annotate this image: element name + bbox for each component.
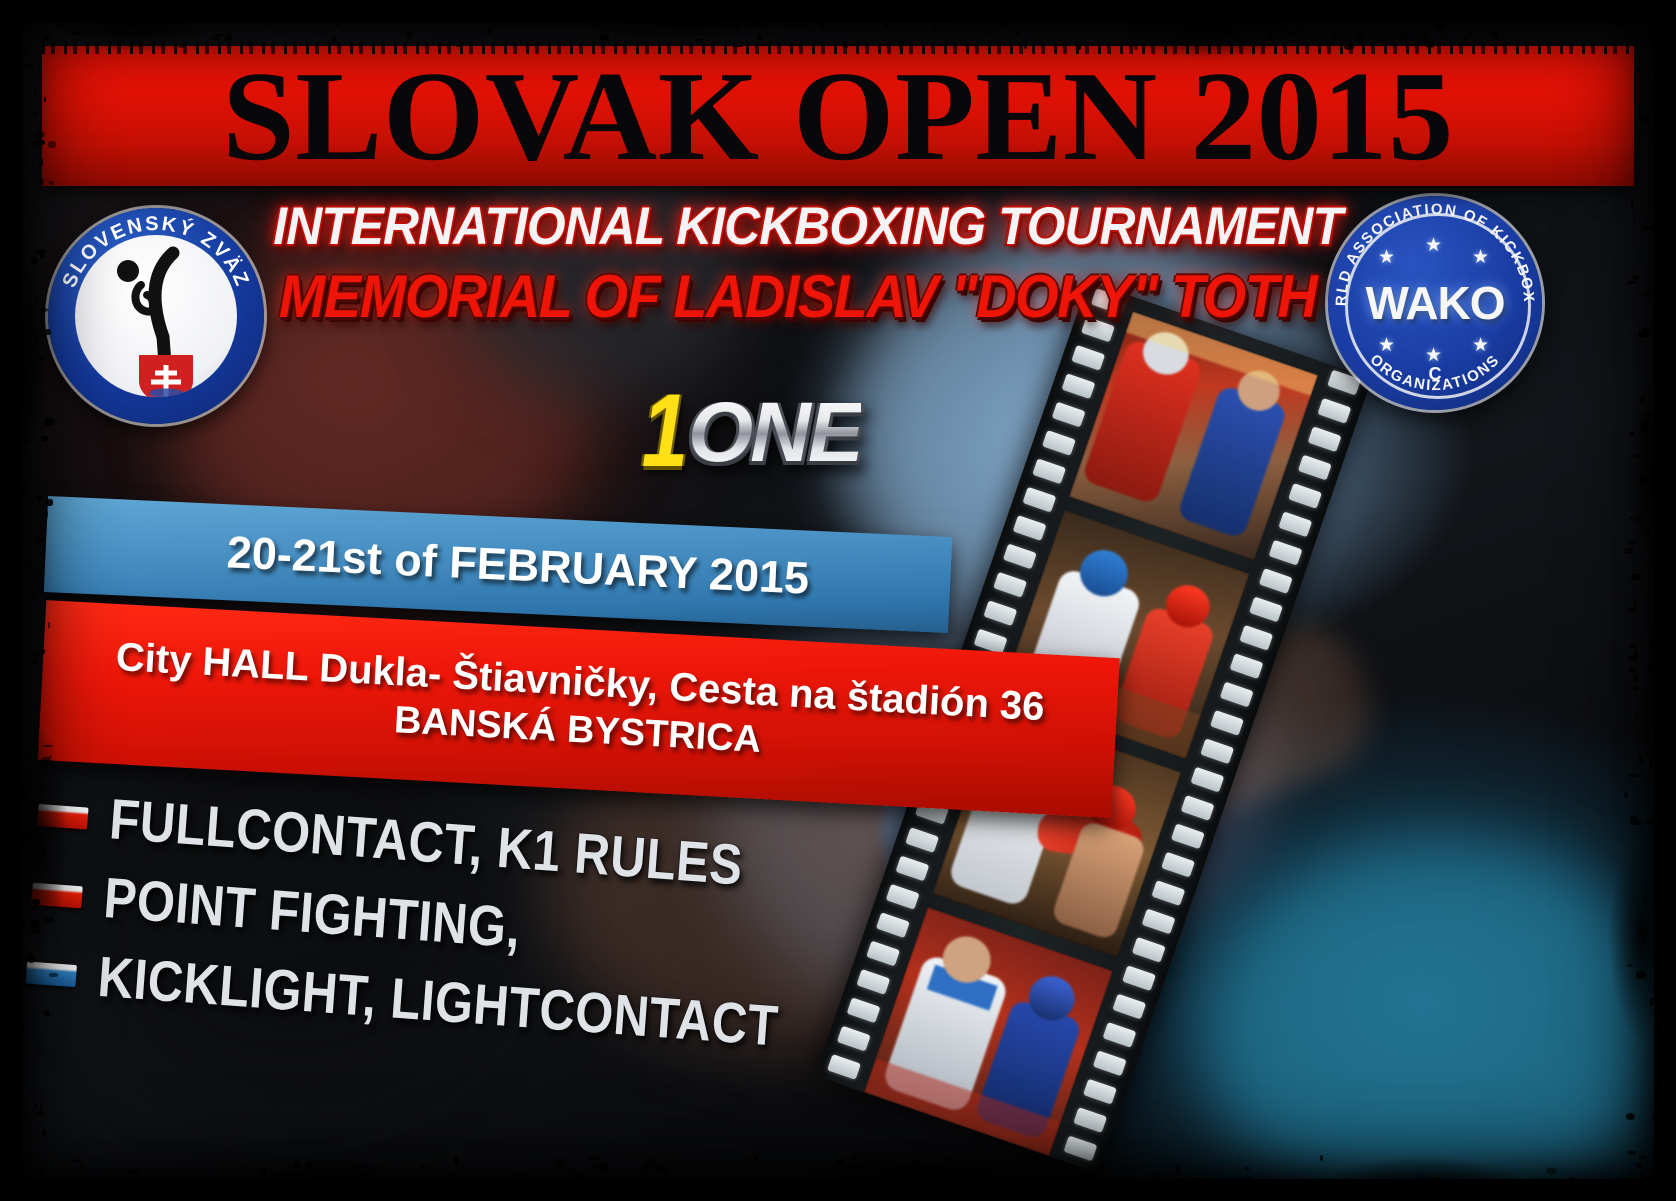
- film-sprocket-hole: [1181, 795, 1215, 821]
- grunge-speck: [200, 1193, 209, 1199]
- grunge-speck: [7, 525, 15, 534]
- grunge-speck: [119, 10, 122, 16]
- grunge-speck: [570, 5, 578, 8]
- film-sprocket-hole: [1142, 909, 1176, 935]
- grunge-speck: [791, 1195, 793, 1201]
- grunge-speck: [1671, 486, 1675, 491]
- grunge-speck: [1673, 1187, 1675, 1191]
- grunge-speck: [234, 8, 237, 13]
- logo-one: 1 ONE: [636, 368, 861, 480]
- grunge-speck: [2, 597, 8, 603]
- grunge-speck: [8, 726, 15, 728]
- wako-star-icon-1: ★: [1378, 248, 1395, 267]
- film-sprocket-hole: [1278, 511, 1312, 537]
- grunge-speck: [420, 1183, 427, 1187]
- grunge-speck: [0, 432, 7, 437]
- wako-star-icon-6: ★: [1472, 336, 1489, 355]
- grunge-speck: [8, 395, 11, 399]
- grunge-speck: [11, 745, 14, 749]
- grunge-speck: [199, 9, 204, 11]
- grunge-speck: [1613, 5, 1619, 13]
- grunge-speck: [498, 1183, 504, 1190]
- film-sprocket-hole: [1288, 483, 1322, 509]
- film-sprocket-hole: [1161, 852, 1195, 878]
- film-sprocket-hole: [1013, 515, 1047, 541]
- grunge-speck: [1656, 273, 1663, 276]
- grunge-speck: [4, 724, 14, 733]
- grunge-speck: [1117, 2, 1125, 7]
- bg-blob-teal-right: [1202, 842, 1654, 1179]
- grunge-speck: [5, 1179, 10, 1185]
- film-sprocket-hole: [1200, 738, 1234, 764]
- grunge-speck: [1668, 572, 1676, 578]
- grunge-speck: [1658, 860, 1666, 866]
- grunge-speck: [409, 1183, 414, 1192]
- grunge-speck: [1672, 503, 1674, 509]
- grunge-speck: [1655, 997, 1659, 1001]
- grunge-speck: [1671, 161, 1673, 168]
- grunge-speck: [1671, 57, 1676, 64]
- grunge-speck: [702, 5, 709, 11]
- film-sprocket-hole: [1061, 373, 1095, 399]
- grunge-speck: [759, 1197, 762, 1200]
- wako-star-icon-3: ★: [1472, 248, 1489, 267]
- grunge-speck: [1668, 1168, 1671, 1176]
- grunge-speck: [817, 1180, 819, 1186]
- grunge-speck: [1601, 15, 1607, 20]
- bullet-marker-icon: [31, 882, 82, 908]
- szk-slovak-shield-icon: [137, 353, 195, 397]
- grunge-speck: [221, 8, 230, 17]
- grunge-speck: [3, 591, 12, 598]
- film-sprocket-hole: [1052, 402, 1086, 428]
- grunge-speck: [1215, 1188, 1226, 1193]
- szk-inner-disc: [75, 235, 237, 397]
- one-logo-digit: 1: [642, 384, 688, 480]
- grunge-speck: [1581, 1197, 1586, 1200]
- grunge-speck: [1591, 14, 1601, 21]
- grunge-speck: [1658, 1113, 1661, 1115]
- grunge-speck: [596, 1190, 601, 1198]
- grunge-speck: [587, 1192, 592, 1198]
- grunge-speck: [1664, 937, 1672, 940]
- grunge-speck: [1667, 178, 1671, 182]
- grunge-speck: [468, 1185, 472, 1192]
- grunge-speck: [1670, 150, 1676, 156]
- grunge-speck: [392, 15, 395, 17]
- grunge-speck: [1369, 1196, 1374, 1198]
- grunge-speck: [1649, 1189, 1652, 1197]
- grunge-speck: [1590, 15, 1598, 21]
- grunge-speck: [1660, 291, 1667, 297]
- grunge-speck: [1667, 810, 1672, 818]
- grunge-speck: [1657, 636, 1661, 641]
- grunge-speck: [2, 43, 13, 49]
- film-sprocket-hole: [1308, 426, 1342, 452]
- grunge-speck: [491, 6, 494, 9]
- film-sprocket-hole: [1022, 487, 1056, 513]
- grunge-speck: [438, 12, 442, 20]
- title-bar: SLOVAK OPEN 2015: [42, 46, 1634, 186]
- film-sprocket-hole: [993, 572, 1027, 598]
- grunge-speck: [268, 1195, 277, 1201]
- grunge-speck: [14, 225, 21, 227]
- grunge-speck: [1663, 967, 1666, 971]
- grunge-speck: [426, 5, 429, 12]
- film-sprocket-hole: [1073, 1107, 1107, 1133]
- grunge-speck: [1665, 922, 1673, 927]
- grunge-speck: [15, 187, 18, 191]
- film-sprocket-hole: [1003, 543, 1037, 569]
- grunge-speck: [585, 1, 596, 6]
- grunge-speck: [1666, 575, 1675, 579]
- grunge-speck: [7, 241, 13, 247]
- grunge-speck: [1098, 1192, 1107, 1199]
- grunge-speck: [651, 11, 656, 19]
- grunge-speck: [7, 903, 12, 905]
- subtitle-tournament: INTERNATIONAL KICKBOXING TOURNAMENT: [273, 200, 1316, 253]
- grunge-speck: [1071, 1189, 1076, 1192]
- wako-star-icon-2: ★: [1425, 236, 1442, 255]
- grunge-speck: [874, 10, 877, 18]
- grunge-speck: [10, 62, 20, 65]
- grunge-speck: [1668, 904, 1671, 908]
- grunge-speck: [15, 1047, 22, 1050]
- grunge-speck: [6, 588, 14, 594]
- wako-bottom-letter: C: [1328, 364, 1542, 385]
- film-sprocket-hole: [1032, 458, 1066, 484]
- grunge-speck: [1662, 1163, 1668, 1170]
- film-sprocket-hole: [1093, 1050, 1127, 1076]
- grunge-speck: [1669, 143, 1676, 151]
- grunge-speck: [1657, 315, 1667, 318]
- grunge-speck: [12, 868, 20, 873]
- grunge-speck: [1436, 13, 1439, 21]
- grunge-speck: [1665, 296, 1671, 300]
- grunge-speck: [1451, 1181, 1456, 1183]
- grunge-speck: [43, 1183, 50, 1186]
- grunge-speck: [7, 292, 14, 296]
- grunge-speck: [4, 82, 8, 86]
- wako-star-icon-4: ★: [1378, 336, 1395, 355]
- grunge-speck: [1655, 200, 1661, 204]
- grunge-speck: [1337, 1188, 1340, 1190]
- grunge-speck: [1652, 6, 1659, 10]
- film-sprocket-hole: [1103, 1022, 1137, 1048]
- grunge-speck: [1662, 20, 1673, 26]
- film-sprocket-hole: [1269, 540, 1303, 566]
- grunge-speck: [5, 367, 11, 374]
- grunge-speck: [1219, 1182, 1223, 1186]
- grunge-speck: [24, 1195, 29, 1201]
- grunge-speck: [738, 3, 749, 9]
- grunge-speck: [17, 1102, 20, 1107]
- film-sprocket-hole: [1071, 345, 1105, 371]
- logo-slovensky-zvaz-kickboxu: SLOVENSKÝ ZVÄZ KICKBOXU: [48, 208, 264, 424]
- grunge-speck: [5, 936, 15, 941]
- grunge-speck: [1522, 1195, 1528, 1199]
- film-sprocket-hole: [1132, 937, 1166, 963]
- grunge-speck: [1660, 587, 1665, 589]
- grunge-speck: [39, 1183, 46, 1190]
- film-sprocket-hole: [1151, 880, 1185, 906]
- grunge-speck: [1664, 316, 1672, 318]
- grunge-speck: [591, 1186, 594, 1194]
- grunge-speck: [3, 891, 9, 897]
- grunge-speck: [1655, 34, 1665, 41]
- grunge-speck: [687, 18, 691, 20]
- grunge-speck: [5, 19, 9, 26]
- grunge-speck: [53, 10, 63, 12]
- grunge-speck: [1639, 16, 1643, 19]
- film-sprocket-hole: [1063, 1135, 1097, 1161]
- film-sprocket-hole: [1190, 767, 1224, 793]
- grunge-speck: [1224, 5, 1233, 12]
- grunge-speck: [828, 2, 833, 7]
- one-logo-word: ONE: [688, 390, 861, 474]
- grunge-speck: [1127, 1189, 1133, 1192]
- grunge-speck: [531, 1183, 534, 1185]
- grunge-speck: [12, 754, 22, 763]
- film-sprocket-hole: [1122, 965, 1156, 991]
- grunge-speck: [3, 1186, 8, 1194]
- grunge-speck: [385, 1191, 391, 1199]
- grunge-speck: [1654, 748, 1658, 753]
- grunge-speck: [65, 9, 74, 11]
- grunge-speck: [1267, 16, 1275, 21]
- wako-star-icon-5: ★: [1425, 346, 1442, 365]
- grunge-speck: [1, 898, 7, 901]
- film-sprocket-hole: [1220, 682, 1254, 708]
- grunge-speck: [50, 9, 56, 15]
- film-sprocket-hole: [1229, 653, 1263, 679]
- grunge-speck: [369, 1196, 373, 1201]
- page-title: SLOVAK OPEN 2015: [26, 46, 1650, 186]
- grunge-speck: [590, 1185, 601, 1193]
- grunge-speck: [151, 1180, 155, 1183]
- grunge-speck: [1661, 1141, 1670, 1144]
- film-sprocket-hole: [1112, 994, 1146, 1020]
- grunge-speck: [6, 873, 16, 881]
- grunge-speck: [1663, 744, 1666, 746]
- film-sprocket-hole: [1083, 1079, 1117, 1105]
- grunge-speck: [12, 997, 16, 999]
- grunge-speck: [1543, 1193, 1547, 1199]
- film-sprocket-hole: [1259, 568, 1293, 594]
- film-sprocket-hole: [1042, 430, 1076, 456]
- grunge-speck: [295, 2, 305, 11]
- grunge-speck: [849, 1197, 859, 1201]
- grunge-speck: [665, 9, 671, 11]
- grunge-speck: [976, 1183, 986, 1187]
- grunge-speck: [12, 9, 20, 13]
- grunge-speck: [425, 1195, 434, 1201]
- film-sprocket-hole: [1239, 625, 1273, 651]
- film-sprocket-hole: [1249, 597, 1283, 623]
- film-sprocket-hole: [983, 600, 1017, 626]
- grunge-speck: [1282, 1179, 1289, 1182]
- subtitle-block: INTERNATIONAL KICKBOXING TOURNAMENT MEMO…: [240, 200, 1350, 327]
- poster-root: SLOVENSKÝ ZVÄZ KICKBOXU: [0, 0, 1676, 1201]
- grunge-speck: [929, 1, 934, 6]
- discipline-label: POINT FIGHTING,: [102, 870, 523, 957]
- grunge-speck: [1670, 574, 1676, 576]
- grunge-speck: [656, 16, 661, 21]
- grunge-speck: [1657, 33, 1665, 37]
- film-sprocket-hole: [1298, 455, 1332, 481]
- grunge-speck: [12, 35, 23, 40]
- grunge-speck: [538, 1188, 544, 1190]
- grunge-speck: [1097, 0, 1099, 3]
- grunge-speck: [1653, 17, 1655, 22]
- bullet-marker-icon: [26, 961, 77, 987]
- grunge-speck: [6, 18, 15, 20]
- grunge-speck: [611, 1194, 622, 1199]
- grunge-speck: [1664, 657, 1669, 660]
- grunge-speck: [1095, 1190, 1101, 1196]
- grunge-speck: [9, 1, 17, 4]
- logo-wako: WORLD ASSOCIATION OF KICKBOXING ORGANIZA…: [1328, 196, 1542, 410]
- grunge-speck: [5, 170, 10, 178]
- grunge-speck: [1665, 233, 1674, 239]
- grunge-speck: [1664, 807, 1667, 813]
- grunge-speck: [1329, 1, 1338, 6]
- grunge-speck: [808, 0, 812, 8]
- grunge-speck: [637, 4, 644, 8]
- grunge-speck: [1655, 375, 1664, 380]
- grunge-speck: [50, 1189, 56, 1196]
- grunge-speck: [1663, 781, 1667, 790]
- grunge-speck: [271, 1197, 278, 1201]
- film-sprocket-hole: [1171, 823, 1205, 849]
- grunge-speck: [1667, 613, 1671, 615]
- grunge-speck: [1405, 1180, 1411, 1184]
- grunge-speck: [1489, 16, 1493, 20]
- grunge-speck: [1660, 79, 1663, 84]
- grunge-speck: [1003, 1196, 1006, 1201]
- grunge-speck: [95, 12, 101, 18]
- film-sprocket-hole: [1210, 710, 1244, 736]
- grunge-speck: [1666, 659, 1669, 666]
- grunge-speck: [242, 10, 248, 13]
- grunge-speck: [1664, 745, 1671, 752]
- wako-wordmark: WAKO: [1328, 276, 1542, 330]
- subtitle-memorial: MEMORIAL OF LADISLAV "DOKY" TOTH: [279, 267, 1311, 327]
- grunge-speck: [12, 889, 17, 897]
- grunge-speck: [6, 717, 15, 722]
- bullet-marker-icon: [37, 803, 88, 829]
- grunge-speck: [180, 1195, 188, 1201]
- grunge-speck: [1641, 0, 1644, 6]
- grunge-speck: [528, 3, 536, 6]
- grunge-speck: [462, 1180, 469, 1184]
- grunge-speck: [1482, 1179, 1486, 1185]
- grunge-speck: [1667, 230, 1672, 239]
- grunge-speck: [1023, 1185, 1025, 1188]
- grunge-speck: [268, 7, 273, 11]
- grunge-speck: [1229, 1181, 1238, 1184]
